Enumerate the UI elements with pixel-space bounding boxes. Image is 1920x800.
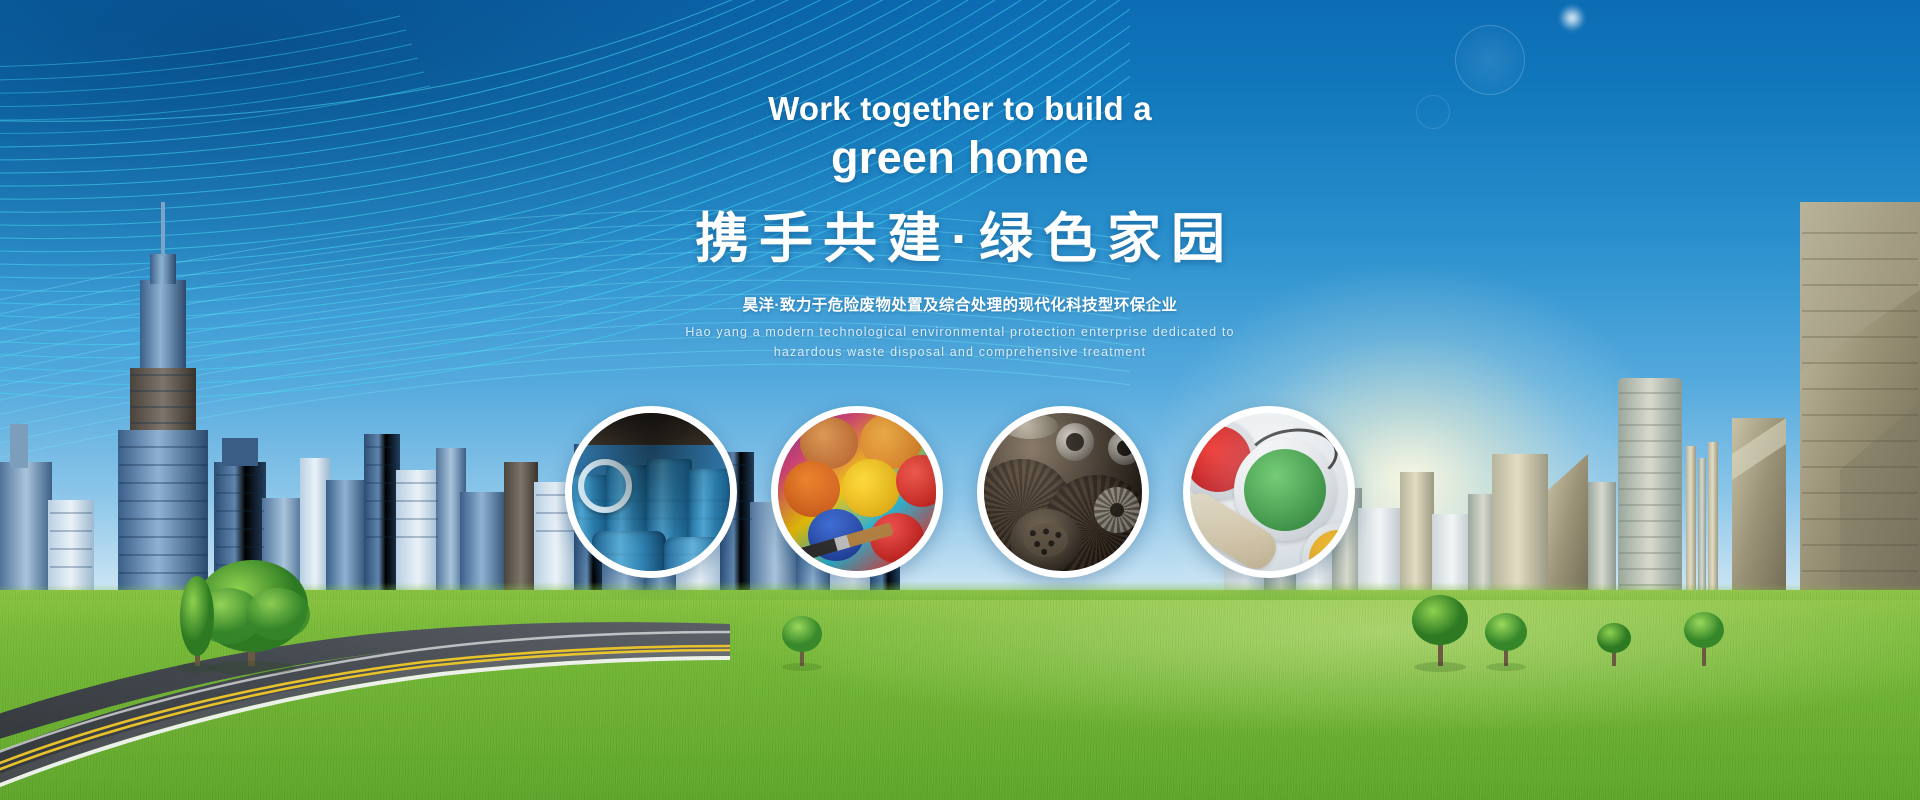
thumbnail-abrasive-waste[interactable] (977, 406, 1149, 578)
thumbnail-row (565, 406, 1355, 596)
subtitle-english-line2: hazardous waste disposal and comprehensi… (0, 343, 1920, 362)
hero-banner: Work together to build a green home 携手共建… (0, 0, 1920, 800)
subtitle-english: Hao yang a modern technological environm… (0, 323, 1920, 362)
green-lawn (0, 590, 1920, 800)
chemical-drums-photo (572, 413, 730, 571)
paint-pigments-photo (778, 413, 936, 571)
banner-copy: Work together to build a green home 携手共建… (0, 90, 1920, 362)
abrasive-waste-photo (984, 413, 1142, 571)
thumbnail-paint-pigments[interactable] (771, 406, 943, 578)
paint-cans-photo (1190, 413, 1348, 571)
headline-english-line2: green home (0, 131, 1920, 186)
headline-chinese: 携手共建·绿色家园 (0, 206, 1920, 274)
lens-flare-dot-icon (1559, 5, 1585, 31)
subtitle-english-line1: Hao yang a modern technological environm… (0, 323, 1920, 342)
headline-english-line1: Work together to build a (0, 90, 1920, 129)
subtitle-chinese: 昊洋·致力于危险废物处置及综合处理的现代化科技型环保企业 (0, 293, 1920, 315)
lens-flare-ring-icon (1455, 25, 1525, 95)
thumbnail-chemical-drums[interactable] (565, 406, 737, 578)
thumbnail-paint-cans[interactable] (1183, 406, 1355, 578)
